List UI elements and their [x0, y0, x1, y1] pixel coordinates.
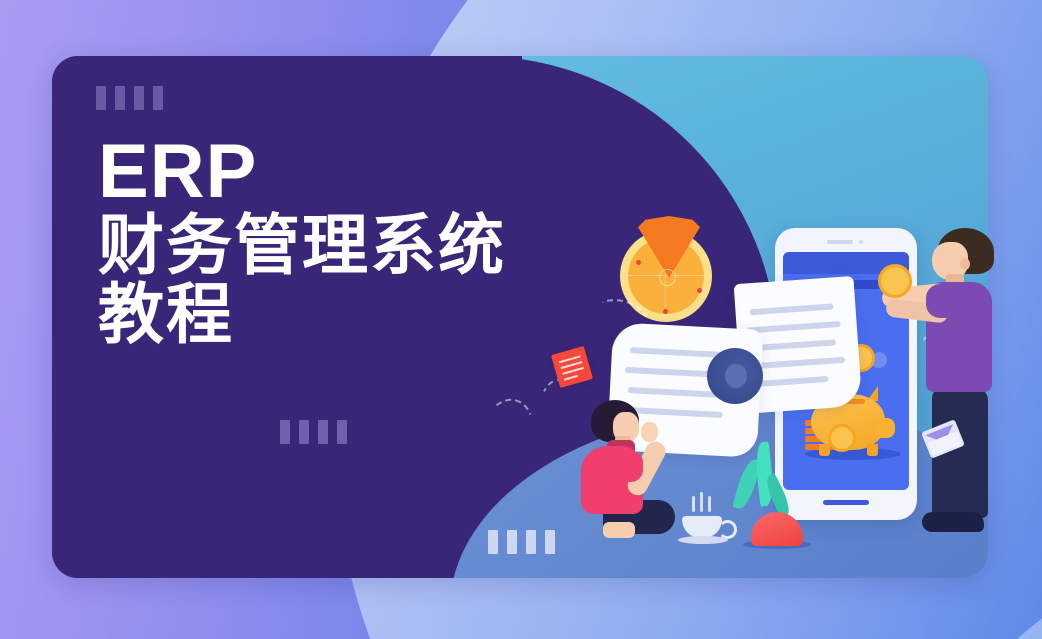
steam-line — [692, 496, 695, 512]
cup-saucer — [678, 536, 728, 544]
coin-held — [878, 264, 912, 298]
headline-latin: ERP — [98, 136, 506, 208]
standing-person — [920, 228, 1030, 548]
standing-sleeve — [926, 284, 960, 318]
pie-chart-hub — [659, 269, 676, 286]
tick-mark — [299, 420, 309, 444]
tick-mark — [318, 420, 328, 444]
tick-mark — [96, 86, 106, 110]
tick-mark — [337, 420, 347, 444]
tick-mark — [488, 530, 498, 554]
receipt-line — [747, 321, 841, 334]
piggy-leg — [867, 444, 878, 456]
receipt-line — [749, 303, 833, 315]
tick-mark — [526, 530, 536, 554]
pie-marker-dot — [636, 260, 641, 265]
seated-hand — [641, 422, 658, 442]
seated-person — [575, 400, 685, 540]
headline-block: ERP 财务管理系统 教程 — [96, 86, 506, 349]
tick-mark — [507, 530, 517, 554]
phone-camera — [859, 240, 863, 244]
cup-body — [682, 516, 722, 538]
poster-canvas: ERP 财务管理系统 教程 — [0, 0, 1042, 639]
sticky-line — [562, 367, 584, 375]
tick-mark — [280, 420, 290, 444]
plant-pot — [751, 512, 803, 546]
ticks-mid-left — [280, 420, 347, 444]
receipt-line — [630, 347, 726, 358]
ticks-top-left — [96, 86, 506, 110]
steam-line — [708, 496, 711, 512]
ticks-bottom-center — [488, 530, 555, 554]
receipt-curl-inner — [725, 364, 747, 388]
tick-mark — [153, 86, 163, 110]
standing-ear — [960, 258, 970, 270]
coffee-cup — [678, 508, 728, 546]
potted-plant — [735, 440, 803, 548]
pie-marker-dot — [697, 288, 702, 293]
standing-shoe — [922, 512, 984, 532]
seated-sleeve — [615, 452, 643, 482]
piggy-snout — [875, 418, 895, 438]
steam-line — [700, 492, 703, 512]
tick-mark — [545, 530, 555, 554]
sticky-line — [564, 375, 578, 381]
headline-cn-line1: 财务管理系统 — [98, 212, 506, 281]
tick-mark — [115, 86, 125, 110]
dashed-trail — [466, 392, 544, 493]
headline-cn-line2: 教程 — [98, 281, 506, 350]
phone-home-indicator — [823, 500, 869, 505]
phone-speaker — [827, 240, 853, 244]
tick-mark — [134, 86, 144, 110]
seated-foot — [603, 522, 635, 538]
